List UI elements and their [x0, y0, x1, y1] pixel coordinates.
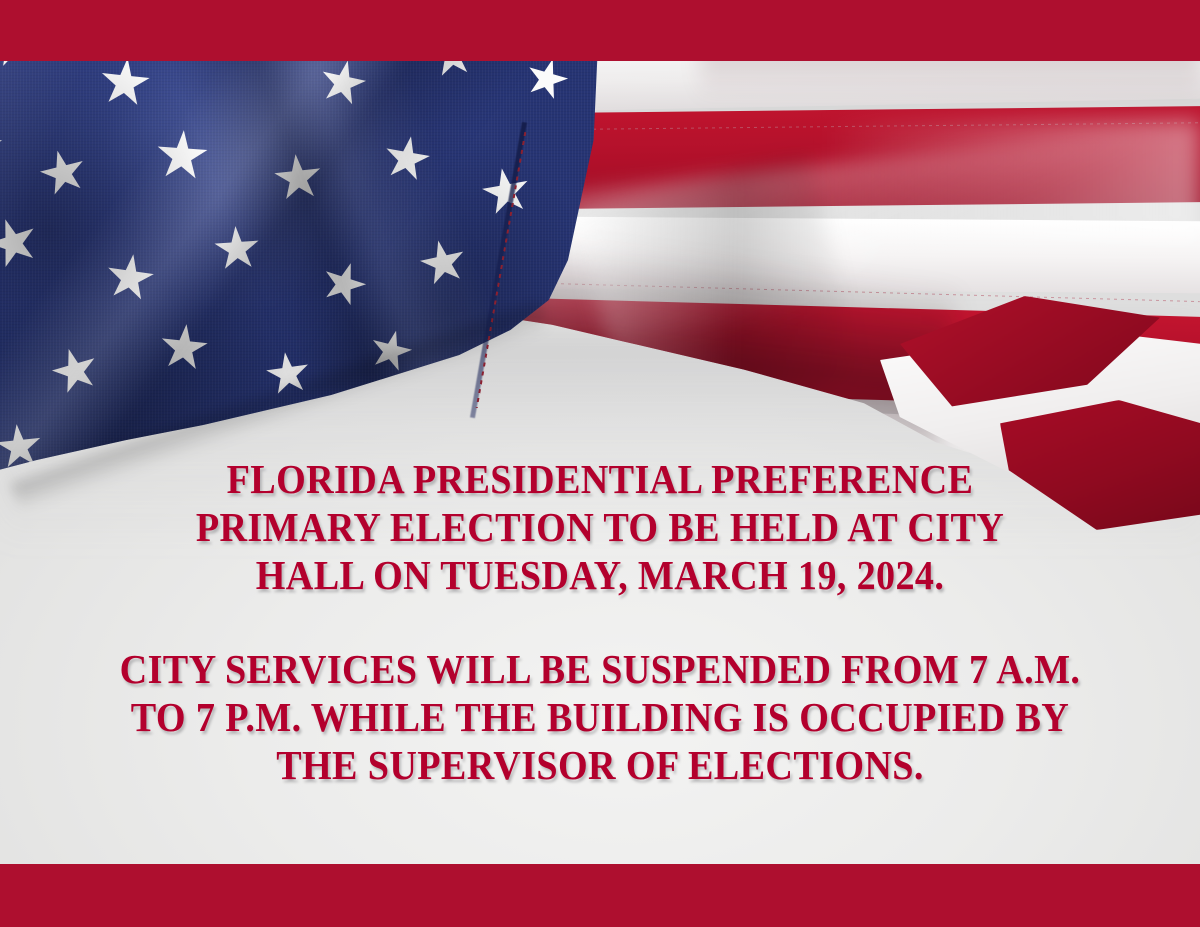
- notice-line: FLORIDA PRESIDENTIAL PREFERENCE: [42, 455, 1158, 503]
- notice-paragraph-two: CITY SERVICES WILL BE SUSPENDED FROM 7 A…: [0, 645, 1200, 789]
- notice-line: PRIMARY ELECTION TO BE HELD AT CITY: [42, 503, 1158, 551]
- flag-blue-canton: [0, 0, 600, 500]
- election-notice-poster: FLORIDA PRESIDENTIAL PREFERENCE PRIMARY …: [0, 0, 1200, 927]
- notice-line: TO 7 P.M. WHILE THE BUILDING IS OCCUPIED…: [42, 693, 1158, 741]
- top-red-border-band: [0, 0, 1200, 61]
- notice-line: THE SUPERVISOR OF ELECTIONS.: [42, 741, 1158, 789]
- notice-paragraph-one: FLORIDA PRESIDENTIAL PREFERENCE PRIMARY …: [0, 455, 1200, 599]
- notice-line: HALL ON TUESDAY, MARCH 19, 2024.: [42, 551, 1158, 599]
- bottom-red-border-band: [0, 864, 1200, 927]
- notice-line: CITY SERVICES WILL BE SUSPENDED FROM 7 A…: [42, 645, 1158, 693]
